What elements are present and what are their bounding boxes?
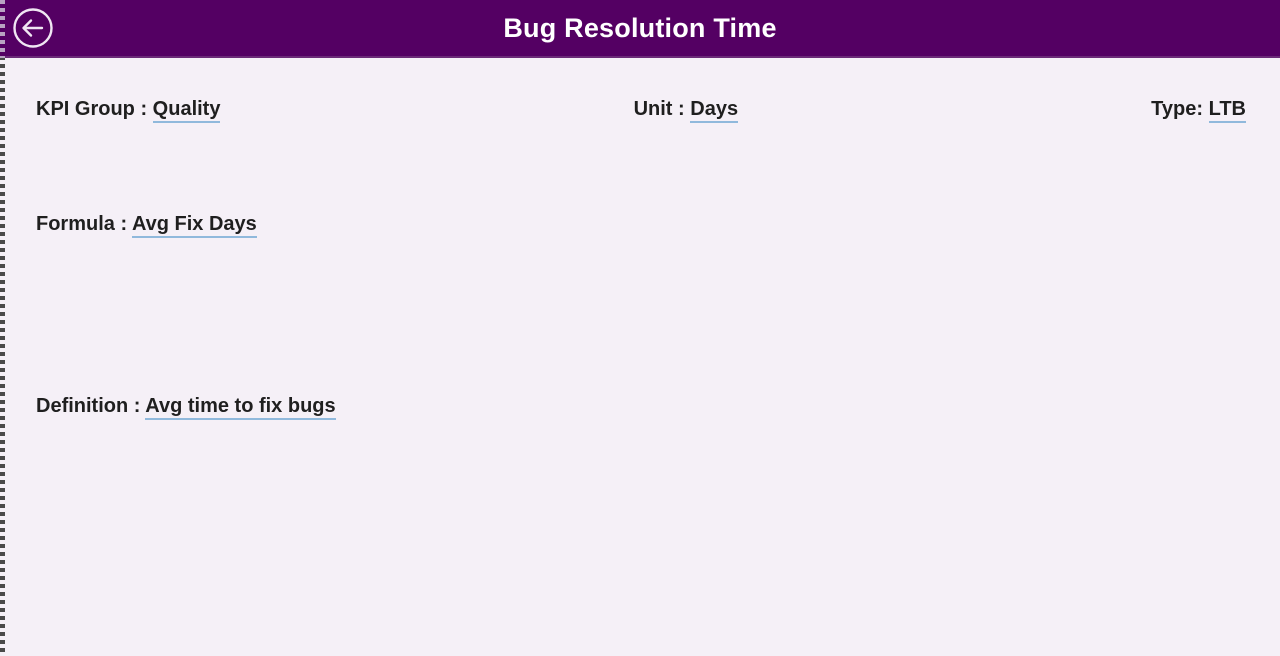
page-title: Bug Resolution Time	[443, 15, 836, 42]
definition-value[interactable]: Avg time to fix bugs	[145, 395, 335, 420]
kpi-detail-screen: Bug Resolution Time KPI Group : Quality …	[0, 0, 1280, 656]
unit-label: Unit	[634, 98, 673, 120]
back-button[interactable]	[11, 6, 55, 50]
type-value[interactable]: LTB	[1209, 98, 1246, 123]
kpi-group-label: KPI Group	[36, 98, 135, 120]
kpi-detail-content: KPI Group : Quality Unit : Days Type: LT…	[0, 58, 1280, 656]
unit-field: Unit : Days	[634, 98, 738, 120]
kpi-summary-row: KPI Group : Quality Unit : Days Type: LT…	[0, 98, 1280, 120]
formula-label: Formula	[36, 213, 115, 235]
kpi-group-field: KPI Group : Quality	[36, 98, 220, 120]
definition-label: Definition	[36, 395, 128, 417]
kpi-group-value[interactable]: Quality	[153, 98, 221, 123]
formula-separator: :	[115, 213, 132, 235]
arrow-left-circle-icon	[12, 7, 54, 49]
unit-separator: :	[672, 98, 690, 120]
formula-field: Formula : Avg Fix Days	[36, 213, 257, 235]
kpi-group-separator: :	[135, 98, 153, 120]
formula-value[interactable]: Avg Fix Days	[132, 213, 257, 238]
type-label: Type	[1151, 98, 1196, 120]
type-separator: :	[1196, 98, 1208, 120]
app-header: Bug Resolution Time	[0, 0, 1280, 58]
definition-field: Definition : Avg time to fix bugs	[36, 395, 336, 417]
type-field: Type: LTB	[1151, 98, 1246, 120]
definition-separator: :	[128, 395, 145, 417]
unit-value[interactable]: Days	[690, 98, 738, 123]
